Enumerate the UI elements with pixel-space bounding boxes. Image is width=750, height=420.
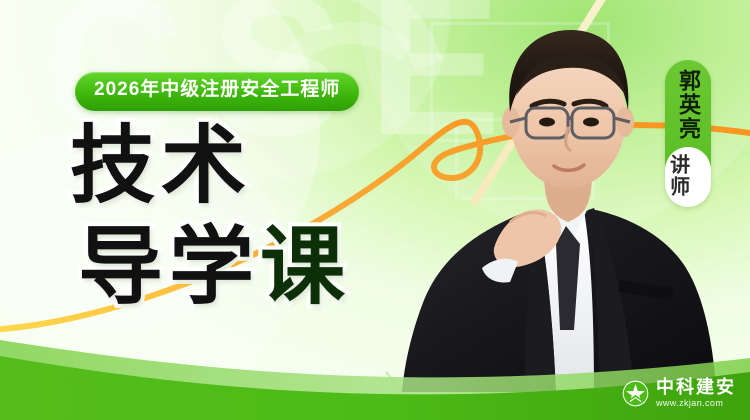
instructor-role: 讲师 <box>665 154 689 198</box>
title-char-dao: 导 <box>78 220 169 315</box>
brand-url: www.zkjan.com <box>656 399 736 408</box>
title-line-2: 导学课 <box>78 225 351 312</box>
course-poster: CSE <box>0 0 750 420</box>
title-line-1: 技术 <box>70 124 351 211</box>
brand-logo: 中科建安 www.zkjan.com <box>622 378 736 408</box>
star-circle-logo-icon <box>622 380 649 407</box>
title-char-ke: 课 <box>260 220 351 315</box>
course-category-badge: 2026年中级注册安全工程师 <box>75 72 359 111</box>
instructor-panel: 郭英亮 讲师 <box>665 60 711 207</box>
poster-title: 技术 导学课 <box>70 124 351 311</box>
instructor-name: 郭英亮 <box>675 69 701 141</box>
brand-name: 中科建安 <box>656 378 736 396</box>
instructor-role-pill: 讲师 <box>665 147 711 207</box>
title-char-xue: 学 <box>169 220 260 315</box>
brand-text: 中科建安 www.zkjan.com <box>656 378 736 408</box>
